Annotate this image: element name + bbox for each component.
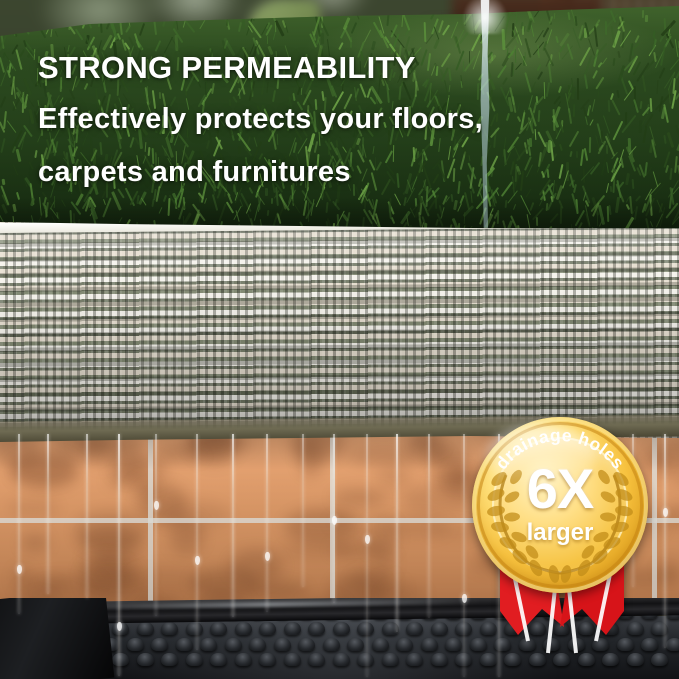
badge-value: 6X: [472, 461, 648, 517]
headline-secondary-line2: carpets and furnitures: [38, 158, 508, 187]
headline-block: STRONG PERMEABILITY Effectively protects…: [38, 52, 508, 187]
headline-primary: STRONG PERMEABILITY: [38, 52, 508, 83]
headline-secondary-line1: Effectively protects your floors,: [38, 105, 508, 134]
product-marketing-image: STRONG PERMEABILITY Effectively protects…: [0, 0, 679, 679]
badge-qualifier: larger: [472, 521, 648, 545]
gold-medal: drainage holes 6X larger: [472, 417, 648, 593]
drainage-badge: drainage holes 6X larger: [472, 417, 652, 679]
water-splash: [462, 0, 508, 34]
